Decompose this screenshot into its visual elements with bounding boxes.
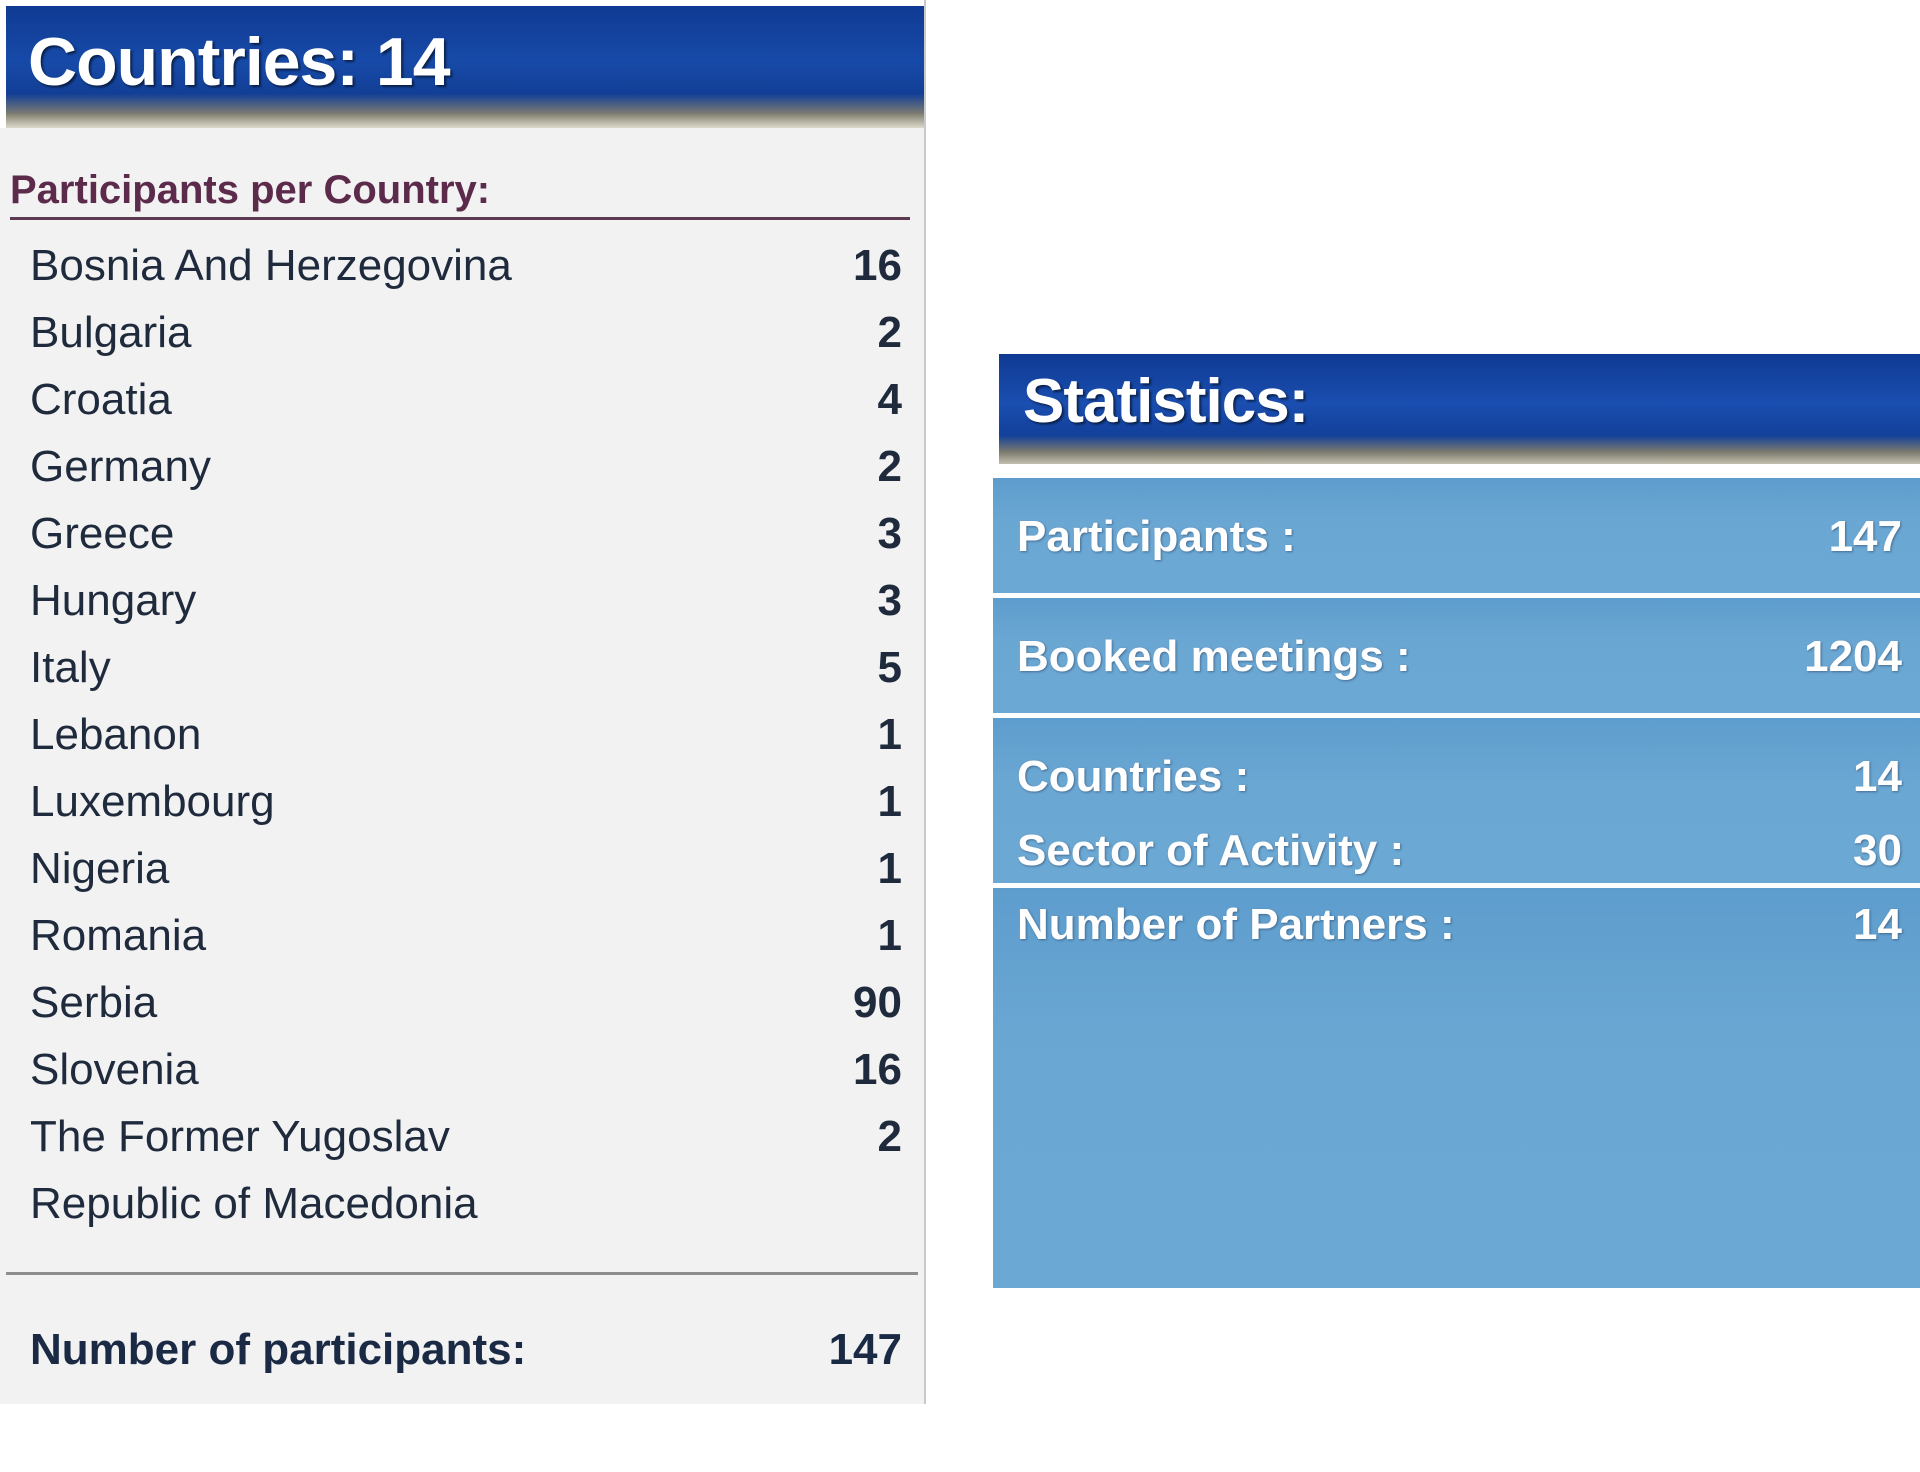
countries-title: Countries: 14 xyxy=(28,14,450,110)
statistics-blocks: Participants :147Booked meetings :1204Co… xyxy=(993,478,1920,1384)
country-participant-count: 4 xyxy=(878,366,902,433)
countries-title-bar: Countries: 14 xyxy=(0,0,924,128)
total-participants-label: Number of participants: xyxy=(30,1315,526,1385)
country-row[interactable]: Germany2 xyxy=(0,433,926,500)
country-participant-count: 90 xyxy=(853,969,902,1036)
country-name: Republic of Macedonia xyxy=(30,1170,478,1237)
country-list[interactable]: Bosnia And Herzegovina16Bulgaria2Croatia… xyxy=(0,232,926,1262)
statistic-value: 14 xyxy=(1853,888,1902,962)
country-name: Croatia xyxy=(30,366,172,433)
country-row[interactable]: Bosnia And Herzegovina16 xyxy=(0,232,926,299)
statistics-title-bar: Statistics: xyxy=(993,348,1920,464)
statistic-label: Number of Partners : xyxy=(1017,888,1455,962)
statistics-panel: Statistics: Participants :147Booked meet… xyxy=(965,348,1920,1388)
country-participant-count: 2 xyxy=(878,299,902,366)
country-row[interactable]: Lebanon1 xyxy=(0,701,926,768)
country-participant-count: 1 xyxy=(878,701,902,768)
statistic-label: Participants : xyxy=(1017,500,1296,574)
country-name: Luxembourg xyxy=(30,768,275,835)
statistic-row: Sector of Activity :30 xyxy=(993,814,1920,888)
countries-total-row: Number of participants: 147 xyxy=(0,1315,926,1385)
country-name: The Former Yugoslav xyxy=(30,1103,450,1170)
statistic-value: 30 xyxy=(1853,814,1902,888)
country-row[interactable]: Republic of Macedonia xyxy=(0,1170,926,1237)
country-row[interactable]: Croatia4 xyxy=(0,366,926,433)
statistics-title: Statistics: xyxy=(1023,356,1308,448)
statistic-value: 147 xyxy=(1829,500,1902,574)
country-participant-count: 2 xyxy=(878,1103,902,1170)
statistic-label: Sector of Activity : xyxy=(1017,814,1404,888)
country-row[interactable]: Hungary3 xyxy=(0,567,926,634)
country-name: Bosnia And Herzegovina xyxy=(30,232,512,299)
statistic-block: Booked meetings :1204 xyxy=(993,598,1920,718)
country-name: Romania xyxy=(30,902,206,969)
country-row[interactable]: The Former Yugoslav2 xyxy=(0,1103,926,1170)
country-name: Italy xyxy=(30,634,111,701)
country-participant-count: 16 xyxy=(853,1036,902,1103)
statistic-value: 1204 xyxy=(1804,620,1902,694)
country-row[interactable]: Bulgaria2 xyxy=(0,299,926,366)
statistic-label: Booked meetings : xyxy=(1017,620,1411,694)
statistic-block: Countries :14Sector of Activity :30 xyxy=(993,718,1920,888)
country-name: Greece xyxy=(30,500,174,567)
country-name: Bulgaria xyxy=(30,299,191,366)
country-name: Hungary xyxy=(30,567,196,634)
country-participant-count: 2 xyxy=(878,433,902,500)
country-row[interactable]: Greece3 xyxy=(0,500,926,567)
country-name: Serbia xyxy=(30,969,157,1036)
statistic-row: Booked meetings :1204 xyxy=(993,620,1920,694)
country-participant-count: 1 xyxy=(878,768,902,835)
country-row[interactable]: Luxembourg1 xyxy=(0,768,926,835)
country-name: Slovenia xyxy=(30,1036,199,1103)
statistic-block: Number of Partners :14 xyxy=(993,888,1920,1288)
statistic-value: 14 xyxy=(1853,740,1902,814)
country-row[interactable]: Serbia90 xyxy=(0,969,926,1036)
participants-per-country-subheader: Participants per Country: xyxy=(10,168,910,220)
country-row[interactable]: Romania1 xyxy=(0,902,926,969)
total-participants-value: 147 xyxy=(829,1315,902,1385)
country-participant-count: 1 xyxy=(878,902,902,969)
country-name: Nigeria xyxy=(30,835,169,902)
country-name: Lebanon xyxy=(30,701,201,768)
country-participant-count: 1 xyxy=(878,835,902,902)
country-row[interactable]: Slovenia16 xyxy=(0,1036,926,1103)
country-participant-count: 3 xyxy=(878,500,902,567)
country-participant-count: 5 xyxy=(878,634,902,701)
statistic-block: Participants :147 xyxy=(993,478,1920,598)
country-row[interactable]: Italy5 xyxy=(0,634,926,701)
statistic-label: Countries : xyxy=(1017,740,1249,814)
country-name: Germany xyxy=(30,433,211,500)
statistic-row: Number of Partners :14 xyxy=(993,888,1920,962)
country-participant-count: 16 xyxy=(853,232,902,299)
list-divider xyxy=(6,1272,918,1275)
statistic-row: Participants :147 xyxy=(993,500,1920,574)
countries-panel: Countries: 14 Participants per Country: … xyxy=(0,0,926,1404)
statistic-row: Countries :14 xyxy=(993,740,1920,814)
country-participant-count: 3 xyxy=(878,567,902,634)
country-row[interactable]: Nigeria1 xyxy=(0,835,926,902)
